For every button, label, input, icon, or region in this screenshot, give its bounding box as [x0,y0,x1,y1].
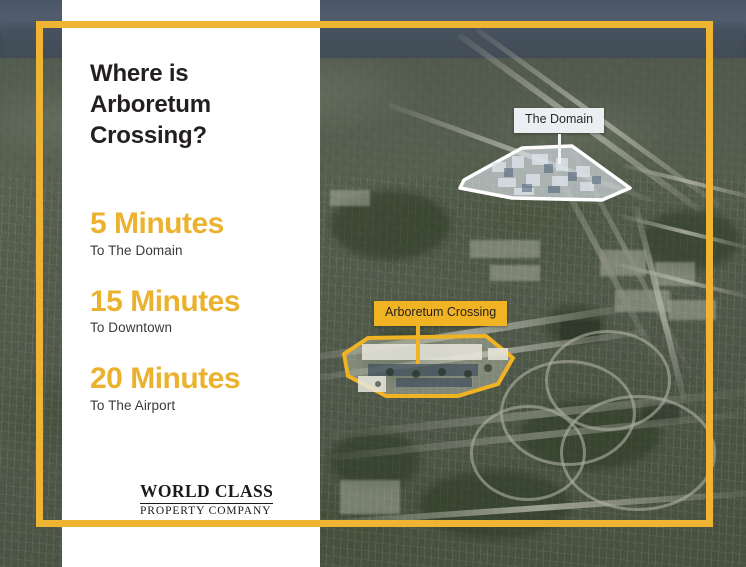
interchange-ramp [545,330,671,431]
stat-number: 5 Minutes [90,208,318,240]
building-block [340,480,400,514]
arboretum-area-highlight [338,332,520,404]
company-logo: WORLD CLASS PROPERTY COMPANY [140,483,273,517]
building-block [668,300,716,320]
callout-the-domain: The Domain [514,108,604,133]
callout-arboretum-crossing: Arboretum Crossing [374,301,507,326]
building-block [470,240,540,258]
callout-label: The Domain [514,108,604,133]
callout-label: Arboretum Crossing [374,301,507,326]
building-block [490,265,540,281]
panel-content: Where is Arboretum Crossing? 5 Minutes T… [62,0,320,567]
stats-list: 5 Minutes To The Domain 15 Minutes To Do… [90,208,318,441]
stat-label: To The Domain [90,243,318,258]
stat-item: 15 Minutes To Downtown [90,286,318,336]
building-block [330,190,370,206]
stat-number: 20 Minutes [90,363,318,395]
logo-secondary-text: PROPERTY COMPANY [140,506,273,518]
callout-stem [416,324,420,364]
slide-canvas: Where is Arboretum Crossing? 5 Minutes T… [0,0,746,567]
stat-label: To The Airport [90,398,318,413]
stat-number: 15 Minutes [90,286,318,318]
stat-label: To Downtown [90,320,318,335]
page-title: Where is Arboretum Crossing? [90,58,305,152]
callout-stem [558,134,561,164]
stat-item: 20 Minutes To The Airport [90,363,318,413]
domain-area-highlight [452,140,652,215]
logo-primary-text: WORLD CLASS [140,483,273,504]
stat-item: 5 Minutes To The Domain [90,208,318,258]
